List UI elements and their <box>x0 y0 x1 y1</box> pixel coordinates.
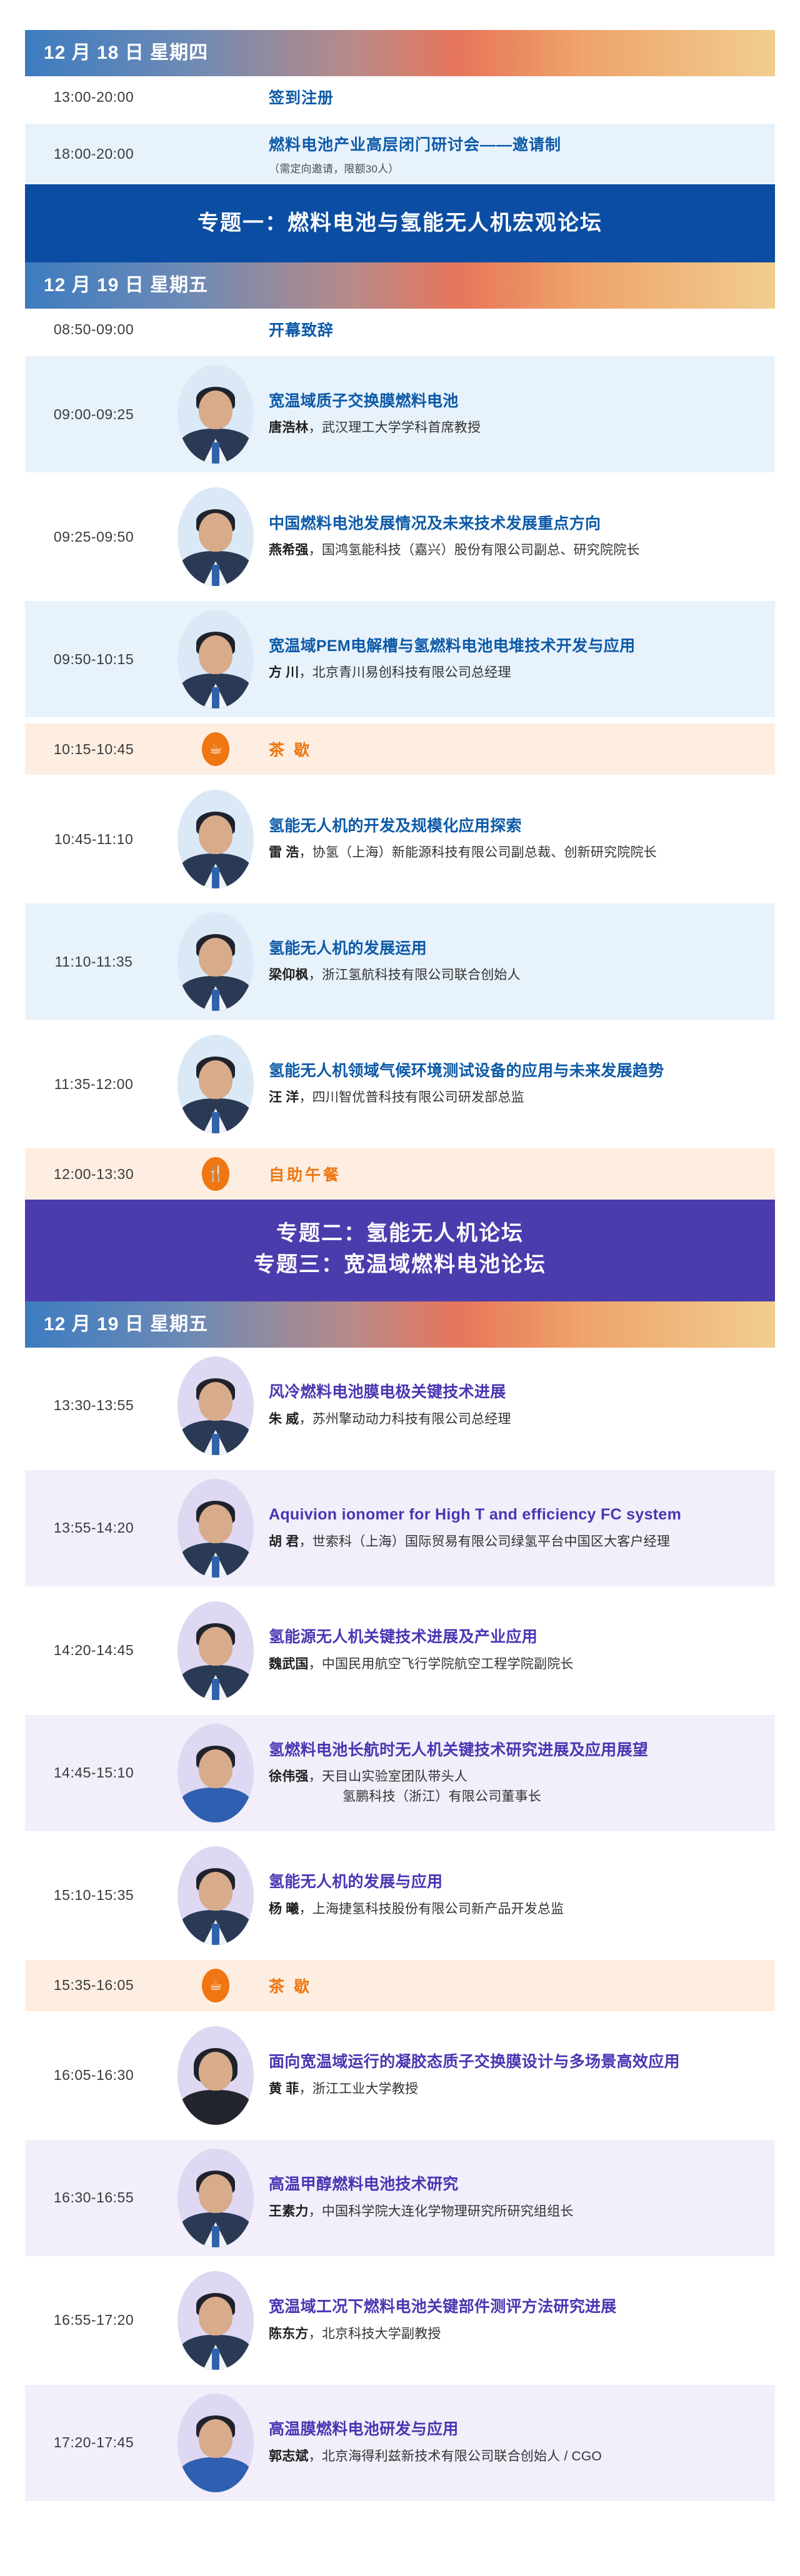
avatar-head-shape <box>199 635 232 674</box>
talk-title: 风冷燃料电池膜电极关键技术进展 <box>269 1382 750 1403</box>
row-time: 15:35-16:05 <box>25 1977 162 1994</box>
section-banner-line: 专题三：宽温域燃料电池论坛 <box>25 1250 775 1280</box>
avatar <box>177 1356 254 1455</box>
row-content: 宽温域质子交换膜燃料电池唐浩林，武汉理工大学学科首席教授 <box>269 391 775 438</box>
schedule-row: 14:20-14:45氢能源无人机关键技术进展及产业应用魏武国，中国民用航空飞行… <box>25 1593 775 1709</box>
speaker-affiliation: 天目山实验室团队带头人 <box>322 1769 467 1784</box>
talk-title: 高温甲醇燃料电池技术研究 <box>269 2174 750 2196</box>
schedule-row: 11:35-12:00氢能无人机领域气候环境测试设备的应用与未来发展趋势汪 洋，… <box>25 1026 775 1142</box>
avatar-cell <box>162 2149 269 2247</box>
rows-day1: 13:00-20:00签到注册18:00-20:00燃料电池产业高层闭门研讨会—… <box>25 76 775 184</box>
avatar <box>177 2394 254 2492</box>
schedule-row: 13:00-20:00签到注册 <box>25 76 775 117</box>
row-note: （需定向邀请，限额30人） <box>269 160 750 176</box>
row-content: 面向宽温域运行的凝胶态质子交换膜设计与多场景高效应用黄 菲，浙江工业大学教授 <box>269 2052 775 2099</box>
talk-title: 氢燃料电池长航时无人机关键技术研究进展及应用展望 <box>269 1740 750 1761</box>
date-label: 12 月 19 日 星期五 <box>25 276 208 295</box>
row-content: 氢能源无人机关键技术进展及产业应用魏武国，中国民用航空飞行学院航空工程学院副院长 <box>269 1627 775 1674</box>
row-gap <box>25 117 775 124</box>
avatar <box>177 610 254 709</box>
speaker-affiliation: 北京海得利兹新技术有限公司联合创始人 / CGO <box>322 2449 602 2464</box>
avatar-head-shape <box>199 1504 232 1543</box>
speaker-line: 黄 菲，浙江工业大学教授 <box>269 2079 750 2099</box>
schedule-row: 16:05-16:30面向宽温域运行的凝胶态质子交换膜设计与多场景高效应用黄 菲… <box>25 2017 775 2134</box>
cutlery-icon: 🍴 <box>202 1157 229 1191</box>
row-gap <box>25 1020 775 1026</box>
row-content: 氢能无人机的发展运用梁仰枫，浙江氢航科技有限公司联合创始人 <box>269 938 775 985</box>
section-banner-topic-2-3: 专题二：氢能无人机论坛专题三：宽温域燃料电池论坛 <box>25 1200 775 1301</box>
row-content: 氢能无人机的发展与应用杨 曦，上海捷氢科技股份有限公司新产品开发总监 <box>269 1872 775 1919</box>
row-time: 11:10-11:35 <box>25 953 162 970</box>
row-time: 11:35-12:00 <box>25 1076 162 1093</box>
row-content: 茶 歇 <box>269 738 775 760</box>
row-time: 16:05-16:30 <box>25 2067 162 2084</box>
avatar-head-shape <box>199 938 232 977</box>
speaker-name: 雷 浩 <box>269 845 299 860</box>
schedule-row: 12:00-13:30🍴自助午餐 <box>25 1148 775 1200</box>
speaker-affiliation: 上海捷氢科技股份有限公司新产品开发总监 <box>312 1902 564 1916</box>
talk-title: 宽温域工况下燃料电池关键部件测评方法研究进展 <box>269 2297 750 2318</box>
rows-day2-afternoon: 13:30-13:55风冷燃料电池膜电极关键技术进展朱 威，苏州擎动动力科技有限… <box>25 1348 775 2501</box>
avatar <box>177 1035 254 1133</box>
row-time: 17:20-17:45 <box>25 2434 162 2451</box>
section-banner-line: 专题一：燃料电池与氢能无人机宏观论坛 <box>25 208 775 239</box>
avatar-cell <box>162 610 269 709</box>
speaker-affiliation: 中国科学院大连化学物理研究所研究组组长 <box>322 2204 574 2219</box>
avatar <box>177 365 254 464</box>
row-content: 宽温域PEM电解槽与氢燃料电池电堆技术开发与应用方 川，北京青川易创科技有限公司… <box>269 636 775 683</box>
row-time: 12:00-13:30 <box>25 1166 162 1183</box>
talk-title: 氢能无人机领域气候环境测试设备的应用与未来发展趋势 <box>269 1061 750 1082</box>
avatar-cell <box>162 790 269 888</box>
rows-day2-morning: 08:50-09:00开幕致辞09:00-09:25宽温域质子交换膜燃料电池唐浩… <box>25 309 775 1200</box>
speaker-affiliation: 四川智优普科技有限公司研发部总监 <box>312 1090 524 1105</box>
speaker-affiliation: 中国民用航空飞行学院航空工程学院副院长 <box>322 1657 574 1671</box>
row-gap <box>25 1954 775 1960</box>
speaker-line: 朱 威，苏州擎动动力科技有限公司总经理 <box>269 1410 750 1430</box>
date-label: 12 月 19 日 星期五 <box>25 1315 208 1334</box>
avatar <box>177 1724 254 1823</box>
break-icon-cell: ☕ <box>162 1969 269 2002</box>
speaker-line: 唐浩林，武汉理工大学学科首席教授 <box>269 418 750 438</box>
schedule-row: 10:45-11:10氢能无人机的开发及规模化应用探索雷 浩，协氢（上海）新能源… <box>25 781 775 897</box>
row-gap <box>25 1831 775 1838</box>
avatar-tie-shape <box>212 1434 219 1455</box>
speaker-affiliation: 协氢（上海）新能源科技有限公司副总裁、创新研究院院长 <box>312 845 657 860</box>
date-bar-day2-afternoon: 12 月 19 日 星期五 <box>25 1301 775 1348</box>
row-content: 氢能无人机的开发及规模化应用探索雷 浩，协氢（上海）新能源科技有限公司副总裁、创… <box>269 816 775 863</box>
avatar-cell <box>162 1724 269 1823</box>
speaker-line: 梁仰枫，浙江氢航科技有限公司联合创始人 <box>269 965 750 985</box>
speaker-affiliation: 国鸿氢能科技（嘉兴）股份有限公司副总、研究院院长 <box>322 543 640 557</box>
speaker-line: 胡 君，世索科（上海）国际贸易有限公司绿氢平台中国区大客户经理 <box>269 1532 750 1552</box>
avatar-head-shape <box>199 2052 232 2091</box>
avatar-cell <box>162 1479 269 1578</box>
row-time: 09:50-10:15 <box>25 651 162 668</box>
avatar-head-shape <box>199 390 232 429</box>
row-time: 15:10-15:35 <box>25 1887 162 1904</box>
schedule-row: 09:50-10:15宽温域PEM电解槽与氢燃料电池电堆技术开发与应用方 川，北… <box>25 601 775 717</box>
avatar-cell <box>162 1035 269 1133</box>
section-banner-topic-1: 专题一：燃料电池与氢能无人机宏观论坛 <box>25 184 775 262</box>
row-content: 中国燃料电池发展情况及未来技术发展重点方向燕希强，国鸿氢能科技（嘉兴）股份有限公… <box>269 514 775 560</box>
talk-title: 氢能无人机的发展运用 <box>269 938 750 960</box>
row-content: 燃料电池产业高层闭门研讨会——邀请制（需定向邀请，限额30人） <box>269 132 775 176</box>
row-gap <box>25 2379 775 2385</box>
avatar-tie-shape <box>212 687 219 709</box>
break-label: 自助午餐 <box>269 1163 750 1185</box>
talk-title: 氢能源无人机关键技术进展及产业应用 <box>269 1627 750 1648</box>
speaker-name: 郭志斌 <box>269 2449 309 2464</box>
avatar-tie-shape <box>212 1924 219 1945</box>
row-time: 09:25-09:50 <box>25 529 162 545</box>
talk-title: 面向宽温域运行的凝胶态质子交换膜设计与多场景高效应用 <box>269 2052 750 2073</box>
speaker-name: 方 川 <box>269 665 299 680</box>
row-time: 08:50-09:00 <box>25 321 162 338</box>
speaker-line: 方 川，北京青川易创科技有限公司总经理 <box>269 663 750 683</box>
avatar <box>177 1601 254 1700</box>
tea-cup-icon: ☕ <box>202 732 229 766</box>
break-label: 茶 歇 <box>269 738 750 760</box>
avatar <box>177 2149 254 2247</box>
schedule-row: 13:30-13:55风冷燃料电池膜电极关键技术进展朱 威，苏州擎动动力科技有限… <box>25 1348 775 1464</box>
avatar-cell <box>162 1356 269 1455</box>
schedule-row: 08:50-09:00开幕致辞 <box>25 309 775 350</box>
speaker-name: 朱 威 <box>269 1412 299 1426</box>
row-gap <box>25 1464 775 1470</box>
avatar-head-shape <box>199 1382 232 1421</box>
row-content: 高温膜燃料电池研发与应用郭志斌，北京海得利兹新技术有限公司联合创始人 / CGO <box>269 2419 775 2466</box>
avatar-head-shape <box>199 1749 232 1788</box>
row-content: 氢能无人机领域气候环境测试设备的应用与未来发展趋势汪 洋，四川智优普科技有限公司… <box>269 1061 775 1108</box>
row-time: 10:45-11:10 <box>25 831 162 848</box>
date-bar-day1: 12 月 18 日 星期四 <box>25 30 775 76</box>
avatar-cell <box>162 1601 269 1700</box>
row-time: 18:00-20:00 <box>25 146 162 162</box>
row-content: 自助午餐 <box>269 1163 775 1185</box>
avatar-tie-shape <box>212 1556 219 1578</box>
schedule-row: 09:00-09:25宽温域质子交换膜燃料电池唐浩林，武汉理工大学学科首席教授 <box>25 356 775 472</box>
schedule-row: 13:55-14:20Aquivion ionomer for High T a… <box>25 1470 775 1586</box>
row-time: 14:45-15:10 <box>25 1764 162 1781</box>
tea-cup-icon: ☕ <box>202 1969 229 2002</box>
speaker-name: 胡 君 <box>269 1534 299 1549</box>
row-content: 宽温域工况下燃料电池关键部件测评方法研究进展陈东方，北京科技大学副教授 <box>269 2297 775 2344</box>
avatar-cell <box>162 487 269 586</box>
avatar-head-shape <box>199 2297 232 2335</box>
avatar <box>177 790 254 888</box>
row-gap <box>25 897 775 903</box>
speaker-affiliation-line2: 氢鹏科技（浙江）有限公司董事长 <box>269 1787 750 1807</box>
avatar-tie-shape <box>212 2226 219 2247</box>
speaker-line: 王素力，中国科学院大连化学物理研究所研究组组长 <box>269 2202 750 2222</box>
avatar-tie-shape <box>212 2349 219 2370</box>
speaker-affiliation: 武汉理工大学学科首席教授 <box>322 420 481 435</box>
talk-title: 宽温域PEM电解槽与氢燃料电池电堆技术开发与应用 <box>269 636 750 657</box>
talk-title: 中国燃料电池发展情况及未来技术发展重点方向 <box>269 514 750 535</box>
row-gap <box>25 1142 775 1148</box>
break-label: 茶 歇 <box>269 1974 750 1997</box>
row-gap <box>25 2011 775 2017</box>
row-gap <box>25 1586 775 1593</box>
row-content: 签到注册 <box>269 86 775 108</box>
avatar <box>177 2026 254 2125</box>
avatar-head-shape <box>199 1627 232 1666</box>
speaker-line: 杨 曦，上海捷氢科技股份有限公司新产品开发总监 <box>269 1899 750 1919</box>
avatar-head-shape <box>199 2174 232 2213</box>
schedule-row: 14:45-15:10氢燃料电池长航时无人机关键技术研究进展及应用展望徐伟强，天… <box>25 1715 775 1831</box>
speaker-name: 杨 曦 <box>269 1902 299 1916</box>
speaker-line: 雷 浩，协氢（上海）新能源科技有限公司副总裁、创新研究院院长 <box>269 843 750 863</box>
schedule-row: 11:10-11:35氢能无人机的发展运用梁仰枫，浙江氢航科技有限公司联合创始人 <box>25 903 775 1020</box>
schedule-row: 16:55-17:20宽温域工况下燃料电池关键部件测评方法研究进展陈东方，北京科… <box>25 2262 775 2379</box>
schedule-row: 17:20-17:45高温膜燃料电池研发与应用郭志斌，北京海得利兹新技术有限公司… <box>25 2385 775 2501</box>
row-time: 13:30-13:55 <box>25 1397 162 1414</box>
row-gap <box>25 472 775 479</box>
speaker-line: 汪 洋，四川智优普科技有限公司研发部总监 <box>269 1088 750 1108</box>
schedule-row: 15:35-16:05☕茶 歇 <box>25 1960 775 2011</box>
row-gap <box>25 775 775 781</box>
avatar-tie-shape <box>212 565 219 586</box>
avatar-cell <box>162 365 269 464</box>
row-content: Aquivion ionomer for High T and efficien… <box>269 1504 775 1551</box>
speaker-name: 黄 菲 <box>269 2082 299 2096</box>
avatar-tie-shape <box>212 867 219 888</box>
avatar-cell <box>162 1846 269 1945</box>
speaker-line: 燕希强，国鸿氢能科技（嘉兴）股份有限公司副总、研究院院长 <box>269 540 750 560</box>
row-time: 13:55-14:20 <box>25 1519 162 1536</box>
row-title: 燃料电池产业高层闭门研讨会——邀请制 <box>269 132 750 155</box>
avatar-body-shape <box>179 2090 252 2125</box>
avatar-cell <box>162 2026 269 2125</box>
schedule-row: 15:10-15:35氢能无人机的发展与应用杨 曦，上海捷氢科技股份有限公司新产… <box>25 1838 775 1954</box>
row-gap <box>25 717 775 724</box>
avatar-head-shape <box>199 815 232 854</box>
speaker-line: 魏武国，中国民用航空飞行学院航空工程学院副院长 <box>269 1654 750 1674</box>
row-gap <box>25 350 775 356</box>
row-time: 16:55-17:20 <box>25 2312 162 2329</box>
avatar <box>177 912 254 1011</box>
row-time: 14:20-14:45 <box>25 1642 162 1659</box>
row-title: 开幕致辞 <box>269 318 750 341</box>
row-content: 开幕致辞 <box>269 318 775 341</box>
row-content: 氢燃料电池长航时无人机关键技术研究进展及应用展望徐伟强，天目山实验室团队带头人氢… <box>269 1740 775 1807</box>
row-gap <box>25 2256 775 2262</box>
speaker-line: 徐伟强，天目山实验室团队带头人氢鹏科技（浙江）有限公司董事长 <box>269 1767 750 1806</box>
avatar-tie-shape <box>212 1112 219 1133</box>
speaker-affiliation: 世索科（上海）国际贸易有限公司绿氢平台中国区大客户经理 <box>312 1534 670 1549</box>
row-time: 16:30-16:55 <box>25 2189 162 2206</box>
avatar-cell <box>162 2271 269 2370</box>
talk-title: 氢能无人机的开发及规模化应用探索 <box>269 816 750 837</box>
speaker-name: 汪 洋 <box>269 1090 299 1105</box>
row-content: 风冷燃料电池膜电极关键技术进展朱 威，苏州擎动动力科技有限公司总经理 <box>269 1382 775 1429</box>
speaker-affiliation: 北京青川易创科技有限公司总经理 <box>312 665 511 680</box>
avatar-tie-shape <box>212 442 219 464</box>
talk-title: 宽温域质子交换膜燃料电池 <box>269 391 750 412</box>
avatar-tie-shape <box>212 990 219 1011</box>
row-gap <box>25 2134 775 2140</box>
row-content: 茶 歇 <box>269 1974 775 1997</box>
avatar <box>177 487 254 586</box>
row-content: 高温甲醇燃料电池技术研究王素力，中国科学院大连化学物理研究所研究组组长 <box>269 2174 775 2221</box>
speaker-name: 唐浩林 <box>269 420 309 435</box>
speaker-name: 王素力 <box>269 2204 309 2219</box>
schedule-row: 10:15-10:45☕茶 歇 <box>25 724 775 775</box>
avatar-head-shape <box>199 1060 232 1099</box>
avatar-body-shape <box>179 1788 252 1823</box>
row-time: 09:00-09:25 <box>25 406 162 423</box>
speaker-line: 郭志斌，北京海得利兹新技术有限公司联合创始人 / CGO <box>269 2447 750 2467</box>
talk-title: Aquivion ionomer for High T and efficien… <box>269 1504 750 1526</box>
break-icon-cell: ☕ <box>162 732 269 766</box>
schedule-row: 18:00-20:00燃料电池产业高层闭门研讨会——邀请制（需定向邀请，限额30… <box>25 124 775 184</box>
avatar-cell <box>162 912 269 1011</box>
speaker-name: 燕希强 <box>269 543 309 557</box>
schedule-row: 16:30-16:55高温甲醇燃料电池技术研究王素力，中国科学院大连化学物理研究… <box>25 2140 775 2256</box>
avatar-cell <box>162 2394 269 2492</box>
talk-title: 氢能无人机的发展与应用 <box>269 1872 750 1893</box>
avatar-body-shape <box>179 2457 252 2492</box>
avatar-head-shape <box>199 1872 232 1911</box>
section-banner-line: 专题二：氢能无人机论坛 <box>25 1218 775 1249</box>
avatar-tie-shape <box>212 1679 219 1700</box>
row-gap <box>25 1709 775 1715</box>
schedule-page: 12 月 18 日 星期四 13:00-20:00签到注册18:00-20:00… <box>0 30 800 2576</box>
avatar-head-shape <box>199 2419 232 2458</box>
speaker-affiliation: 浙江工业大学教授 <box>312 2082 419 2096</box>
speaker-name: 徐伟强 <box>269 1769 309 1784</box>
avatar-head-shape <box>199 513 232 552</box>
speaker-name: 魏武国 <box>269 1657 309 1671</box>
speaker-line: 陈东方，北京科技大学副教授 <box>269 2324 750 2344</box>
speaker-name: 梁仰枫 <box>269 968 309 982</box>
date-label: 12 月 18 日 星期四 <box>25 44 208 62</box>
break-icon-cell: 🍴 <box>162 1157 269 1191</box>
row-time: 10:15-10:45 <box>25 741 162 758</box>
avatar <box>177 1479 254 1578</box>
row-time: 13:00-20:00 <box>25 89 162 106</box>
date-bar-day2-morning: 12 月 19 日 星期五 <box>25 262 775 309</box>
schedule-row: 09:25-09:50中国燃料电池发展情况及未来技术发展重点方向燕希强，国鸿氢能… <box>25 479 775 595</box>
avatar <box>177 1846 254 1945</box>
avatar <box>177 2271 254 2370</box>
row-title: 签到注册 <box>269 86 750 108</box>
row-gap <box>25 595 775 601</box>
speaker-affiliation: 苏州擎动动力科技有限公司总经理 <box>312 1412 511 1426</box>
talk-title: 高温膜燃料电池研发与应用 <box>269 2419 750 2440</box>
speaker-affiliation: 浙江氢航科技有限公司联合创始人 <box>322 968 521 982</box>
